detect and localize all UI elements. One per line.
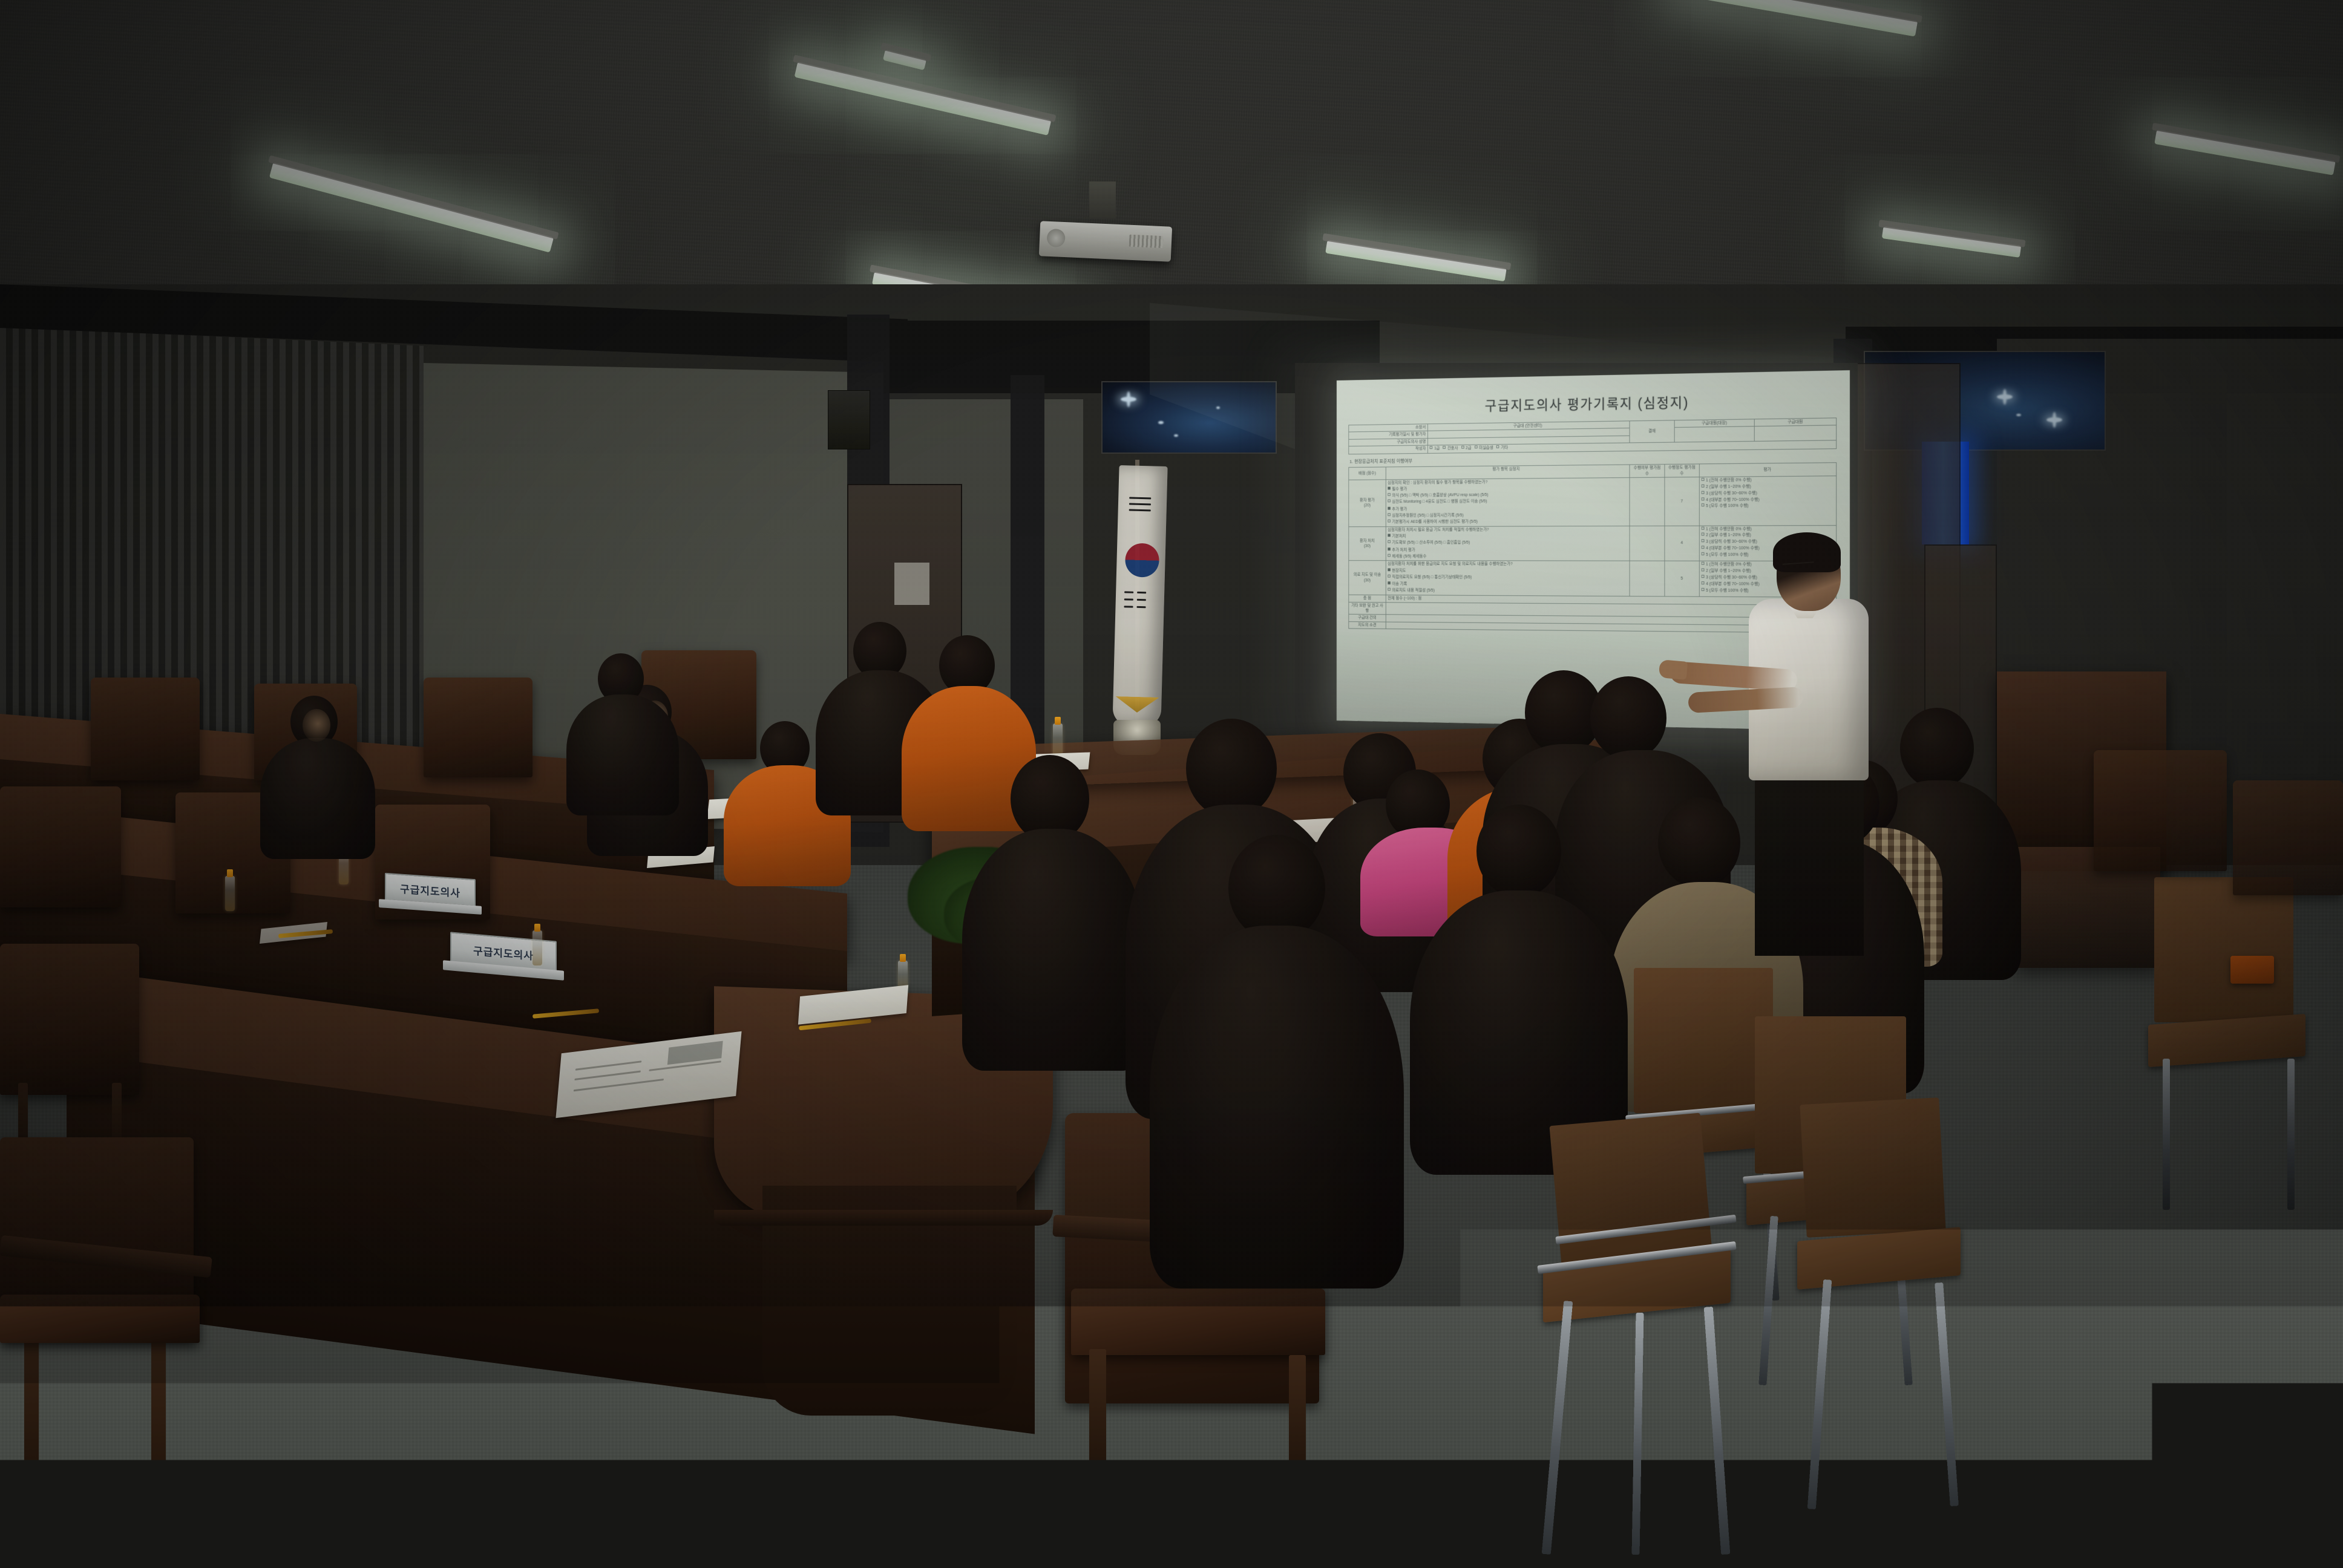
do-score-cell [1630,561,1664,596]
rating-options-cell: 1 (전혀 수행안함 0% 수행) 2 (일부 수행 1~20% 수행) 3 (… [1699,476,1837,526]
checkbox-icon[interactable] [1388,493,1390,496]
checkbox-icon[interactable] [1461,446,1464,449]
bullet-icon [1388,507,1390,510]
rating-option: 4 (대부분 수행 70~100% 수행) [1706,497,1759,501]
chair[interactable] [2233,780,2343,895]
star-icon [2016,414,2021,416]
water-bottle[interactable] [225,876,235,911]
checkbox-icon[interactable] [1430,446,1433,449]
checkbox-icon[interactable] [1702,581,1705,584]
trigram-icon [1124,591,1133,593]
col-header: 수행정도 평가점수 [1665,464,1700,477]
rating-option: 1 (전혀 수행안함 0% 수행) [1706,527,1751,531]
score-label: 환자 평가 [1351,498,1384,503]
nameplate-label: 구급지도의사 [473,942,534,962]
score-points: (20) [1351,503,1384,509]
projector-lens-icon [1047,229,1066,247]
chair[interactable] [424,678,532,777]
group-item: 의료지도 내용 적절성 (5/5) [1392,589,1434,593]
checkbox-icon[interactable] [1702,504,1705,507]
checkbox-icon[interactable] [1388,500,1390,503]
rating-option: 5 (모두 수행 100% 수행) [1706,553,1748,557]
chair-leg [2163,1059,2170,1210]
table-row: 환자 평가 (20) 심정지의 확인 : 심정지 환자의 필수 평가 항목을 수… [1349,476,1837,527]
checkbox-icon[interactable] [1702,497,1705,500]
score-label: 환자 처치 [1351,538,1384,544]
audience-person [260,738,375,859]
checkbox-icon[interactable] [1702,485,1705,488]
checkbox-icon[interactable] [1388,519,1390,522]
audience-person-foreground [1150,926,1404,1289]
degree-score-cell: 4 [1665,526,1700,561]
option-label: 간호사 [1447,446,1458,451]
row-question-cell: 심정지환자 처치를 위한 응급의료 지도 요청 및 의료지도 내용을 수행하였는… [1386,561,1630,596]
audience-head [1590,676,1666,760]
checkbox-icon[interactable] [1702,552,1705,555]
trigram-icon [1136,606,1145,608]
row-question-cell: 심정지의 확인 : 심정지 환자의 필수 평가 항목을 수행하였는가? 필수 평… [1386,478,1630,527]
trigram-icon [1124,606,1133,607]
row-score-label: 의료 지도 및 이송 (30) [1349,561,1386,595]
question-text: 심정지환자 처치를 위한 응급의료 지도 요청 및 의료지도 내용을 수행하였는… [1388,561,1628,567]
rating-option: 4 (대부분 수행 70~100% 수행) [1706,546,1759,550]
checkbox-icon[interactable] [1702,588,1705,591]
group-item: 심전도 Monitoring □ 4유도 심전도 □ 병원 심전도 이송 (5/… [1392,500,1487,505]
rating-option: 2 (일부 수행 1~20% 수행) [1706,485,1751,489]
group-heading: 추가 처치 평가 [1392,548,1415,552]
audience-person [962,829,1144,1071]
checkbox-icon[interactable] [1388,574,1390,577]
rating-option: 2 (일부 수행 1~20% 수행) [1706,534,1751,538]
door-notice [894,563,929,605]
score-points: (30) [1351,544,1384,549]
ceiling-projector [1039,221,1172,261]
bullet-icon [1388,568,1390,571]
face-highlight [303,709,330,742]
star-icon [1158,421,1164,424]
decor-star-panel [1101,381,1277,454]
group-item: 기본평가시 AED를 사용하여 시행한 심전도 평가 (5/5) [1392,520,1477,524]
checkbox-icon[interactable] [1702,526,1705,529]
checkbox-icon[interactable] [1475,446,1478,449]
table-edge [714,1210,1053,1226]
rating-option: 1 (전혀 수행안함 0% 수행) [1706,478,1751,482]
bullet-icon [1388,534,1390,537]
checkbox-icon[interactable] [1388,513,1390,516]
chair-back [1800,1097,1945,1238]
rating-option: 3 (상당히 수행 30~60% 수행) [1706,575,1757,580]
degree-score-cell: 5 [1665,561,1700,596]
checkbox-icon[interactable] [1702,491,1705,494]
option-label: 1급 [1434,446,1440,451]
chair-seat[interactable] [0,1295,200,1343]
row-score-label: 환자 평가 (20) [1349,480,1386,526]
degree-score-cell: 7 [1665,477,1700,526]
audience-person [566,694,679,815]
chair-leg [1089,1349,1106,1488]
nameplate-label: 구급지도의사 [400,880,460,900]
star-icon [2046,417,2062,422]
header-value [1755,425,1837,441]
audience-head [1186,719,1277,818]
total-label: 총 점 [1349,595,1386,602]
trigram-icon [1129,503,1151,505]
korean-flag-icon [1112,465,1167,727]
chair[interactable] [0,786,121,907]
star-icon [1174,434,1178,437]
group-item: 기도확보 (5/5) □ 산소투여 (5/5) □ 흡인흡입 (5/5) [1392,541,1470,545]
chair[interactable] [0,944,139,1095]
water-bottle[interactable] [532,930,542,965]
projector-vents [1129,235,1164,248]
question-text: 심정지환자 처치시 필요 응급 기도 처치를 적절히 수행하였는가? [1388,527,1628,533]
group-item: 의식 (5/5) □ 맥박 (5/5) □ 호흡양상 (AVPU resp sc… [1392,493,1488,498]
paper-text-line [575,1060,641,1070]
chair-back [1634,968,1773,1113]
group-item: 직접의료지도 요청 (5/5) □ 통신기기상태확인 (5/5) [1392,575,1472,579]
chair-leg [1289,1355,1306,1494]
rating-option: 1 (전혀 수행안함 0% 수행) [1706,563,1751,567]
header-label: 작성자 [1349,445,1428,454]
group-heading: 현장지도 [1392,569,1406,573]
checkbox-icon[interactable] [1702,546,1705,549]
presenter-hand-pointing [1659,659,1688,680]
star-icon [1216,407,1220,409]
checkbox-icon[interactable] [1702,478,1705,481]
checkbox-icon[interactable] [1702,575,1705,578]
group-heading: 필수 평가 [1392,488,1407,492]
rating-option: 4 (대부분 수행 70~100% 수행) [1706,582,1759,586]
checkbox-icon[interactable] [1702,540,1705,543]
trigram-icon [1129,509,1151,511]
table-row: 환자 처치 (30) 심정지환자 처치시 필요 응급 기도 처치를 적절히 수행… [1349,525,1837,561]
chair-leg [2287,1059,2295,1210]
row-score-label: 환자 처치 (30) [1349,526,1386,561]
footer-label: 기타 보완 및 권고 사항 [1349,602,1386,615]
rating-option: 5 (모두 수행 100% 수행) [1706,504,1748,508]
checkbox-icon[interactable] [1702,533,1705,536]
chair-back [2154,877,2293,1022]
audience-head [1658,797,1740,888]
conference-room-scene: 구급지도의사 평가기록지 (심정지) 소방서 구급대 (안전센터) 결재 구급대… [0,0,2343,1568]
checkbox-icon[interactable] [1443,446,1446,449]
flag-fringe [1115,696,1159,713]
star-icon [1997,394,2013,399]
score-label: 의료 지도 및 이송 [1351,572,1384,578]
do-score-cell [1630,477,1664,526]
checkbox-icon[interactable] [1496,445,1499,448]
group-item: 제세동 (5/5) 제세동수 [1392,554,1426,558]
paper-text-line [574,1071,640,1080]
do-score-cell [1630,526,1664,561]
checkbox-icon[interactable] [1388,588,1390,591]
chair-seat-accent [2230,956,2274,984]
footer-label: 구급대 건의 [1349,615,1386,622]
group-heading: 추가 평가 [1392,508,1407,512]
chair[interactable] [2094,750,2227,871]
footer-label: 지도의 소견 [1349,622,1386,629]
rating-option: 3 (상당히 수행 30~60% 수행) [1706,491,1757,495]
group-heading: 이송 기록 [1392,583,1407,587]
trigram-icon [1137,599,1146,601]
rating-option: 3 (상당히 수행 30~60% 수행) [1706,540,1757,544]
audience-head [1900,708,1974,789]
checkbox-icon[interactable] [1702,562,1705,565]
wall-speaker [828,390,870,449]
slide-title: 구급지도의사 평가기록지 (심정지) [1348,388,1837,417]
taeguk-circle-icon [1125,543,1159,577]
rating-option: 2 (일부 수행 1~20% 수행) [1706,569,1751,573]
group-item: 심정지추정원인 (5/5) □ 심정지시간기록 (5/5) [1392,514,1463,518]
col-header: 수행여부 평가점수 [1630,465,1664,478]
checkbox-icon[interactable] [1388,554,1390,557]
trigram-icon [1129,497,1151,499]
option-label: 2급 [1466,446,1471,451]
approval-cell: 결재 [1630,420,1674,443]
score-points: (30) [1351,578,1384,583]
trigram-icon [1124,598,1133,600]
chair[interactable] [91,678,200,780]
bullet-icon [1388,487,1390,490]
header-value [1674,426,1755,442]
audience-head [1476,805,1561,898]
paper-text-line [574,1079,664,1091]
slide-header-table: 소방서 구급대 (안전센터) 결재 구급대원(대장) 구급대원 기록평가일시 및… [1348,417,1837,454]
star-icon [1121,397,1136,402]
table-row: 의료 지도 및 이송 (30) 심정지환자 처치를 위한 응급의료 지도 요청 … [1349,561,1837,598]
bullet-icon [1388,582,1390,585]
trigram-icon [1137,592,1146,593]
question-text: 심정지의 확인 : 심정지 환자의 필수 평가 항목을 수행하였는가? [1388,479,1628,486]
checkbox-icon[interactable] [1388,540,1390,543]
presenter-legs [1755,774,1864,956]
chair-leg [151,1331,166,1512]
checkbox-icon[interactable] [1702,569,1705,572]
col-header: 배점 (점수) [1349,467,1386,480]
projector-mount [1089,181,1116,219]
chair-seat[interactable] [1071,1289,1325,1355]
bullet-icon [1388,547,1390,550]
row-question-cell: 심정지환자 처치시 필요 응급 기도 처치를 적절히 수행하였는가? 기본처치 … [1386,526,1630,561]
option-label: 미실습생 [1479,446,1493,450]
rating-option: 5 (모두 수행 100% 수행) [1706,589,1748,593]
group-heading: 기본처치 [1392,534,1406,538]
option-label: 기타 [1501,446,1508,450]
col-header: 평가 [1699,463,1837,477]
